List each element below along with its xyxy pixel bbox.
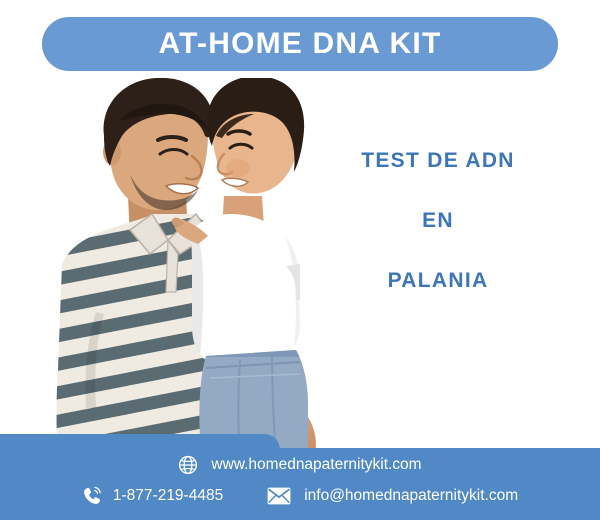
child-shirt xyxy=(192,214,300,360)
footer-content: www.homednapaternitykit.com 1-877-219-44… xyxy=(0,430,600,520)
child-cheek xyxy=(226,159,250,177)
header-title: AT-HOME DNA KIT xyxy=(159,29,442,59)
headline-line-3: PALANIA xyxy=(318,270,558,291)
footer-contact-row: 1-877-219-4485 info@homednapaternitykit.… xyxy=(0,486,600,506)
footer-bar: www.homednapaternitykit.com 1-877-219-44… xyxy=(0,430,600,520)
headline-line-1: TEST DE ADN xyxy=(318,150,558,171)
globe-icon xyxy=(178,455,198,475)
headline-block: TEST DE ADN EN PALANIA xyxy=(318,150,558,291)
phone-icon xyxy=(82,486,102,506)
email-icon xyxy=(267,487,291,505)
headline-line-2: EN xyxy=(318,210,558,231)
footer-website-row: www.homednapaternitykit.com xyxy=(0,455,600,475)
footer-website-label: www.homednapaternitykit.com xyxy=(211,457,421,473)
family-photo xyxy=(0,78,330,460)
footer-phone-label: 1-877-219-4485 xyxy=(113,488,223,504)
footer-website-item[interactable]: www.homednapaternitykit.com xyxy=(178,455,421,475)
footer-email-label: info@homednapaternitykit.com xyxy=(304,488,518,504)
poster-canvas: AT-HOME DNA KIT xyxy=(0,0,600,520)
footer-phone-item[interactable]: 1-877-219-4485 xyxy=(82,486,223,506)
footer-email-item[interactable]: info@homednapaternitykit.com xyxy=(267,487,518,505)
header-banner: AT-HOME DNA KIT xyxy=(42,17,558,71)
